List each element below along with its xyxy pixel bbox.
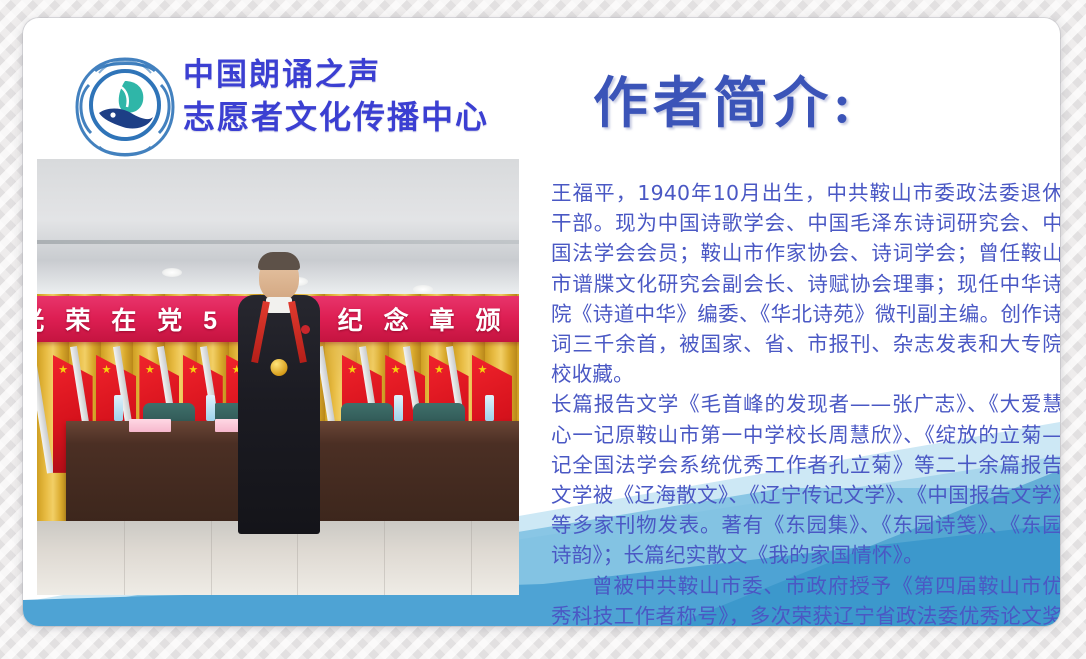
slide-header: 中国朗诵之声 志愿者文化传播中心 作者简介:	[23, 18, 1060, 158]
name-placard	[129, 419, 171, 432]
organization-logo-icon	[69, 51, 181, 163]
bio-paragraph-1: 王福平，1940年10月出生，中共鞍山市委政法委退休干部。现为中国诗歌学会、中国…	[551, 178, 1060, 389]
photo-frame: 光 荣 在 党 5 0 年" 纪 念 章 颁 发	[37, 159, 519, 595]
page-title: 作者简介:	[593, 74, 856, 134]
organization-title: 中国朗诵之声 志愿者文化传播中心	[183, 54, 489, 138]
water-bottle-icon	[394, 395, 403, 421]
slide-card: 中国朗诵之声 志愿者文化传播中心 作者简介: 光 荣 在 党 5 0 年" 纪 …	[23, 18, 1060, 626]
author-award-photo: 光 荣 在 党 5 0 年" 纪 念 章 颁 发	[37, 159, 519, 595]
bio-paragraph-3: 曾被中共鞍山市委、市政府授予《第四届鞍山市优秀科技工作者称号》，多次荣获辽宁省政…	[551, 571, 1060, 626]
emblem-svg	[69, 51, 181, 163]
org-name-line1: 中国朗诵之声	[183, 54, 489, 96]
author-biography: 王福平，1940年10月出生，中共鞍山市委政法委退休干部。现为中国诗歌学会、中国…	[551, 178, 1060, 626]
org-name-line2: 志愿者文化传播中心	[183, 96, 489, 138]
commemorative-medal-icon	[271, 359, 288, 376]
water-bottle-icon	[485, 395, 494, 421]
conference-table	[307, 421, 519, 526]
water-bottle-icon	[206, 395, 215, 421]
water-bottle-icon	[114, 395, 123, 421]
author-portrait	[239, 255, 319, 534]
bio-paragraph-2: 长篇报告文学《毛首峰的发现者——张广志》、《大爱慧心一记原鞍山市第一中学校长周慧…	[551, 389, 1060, 570]
